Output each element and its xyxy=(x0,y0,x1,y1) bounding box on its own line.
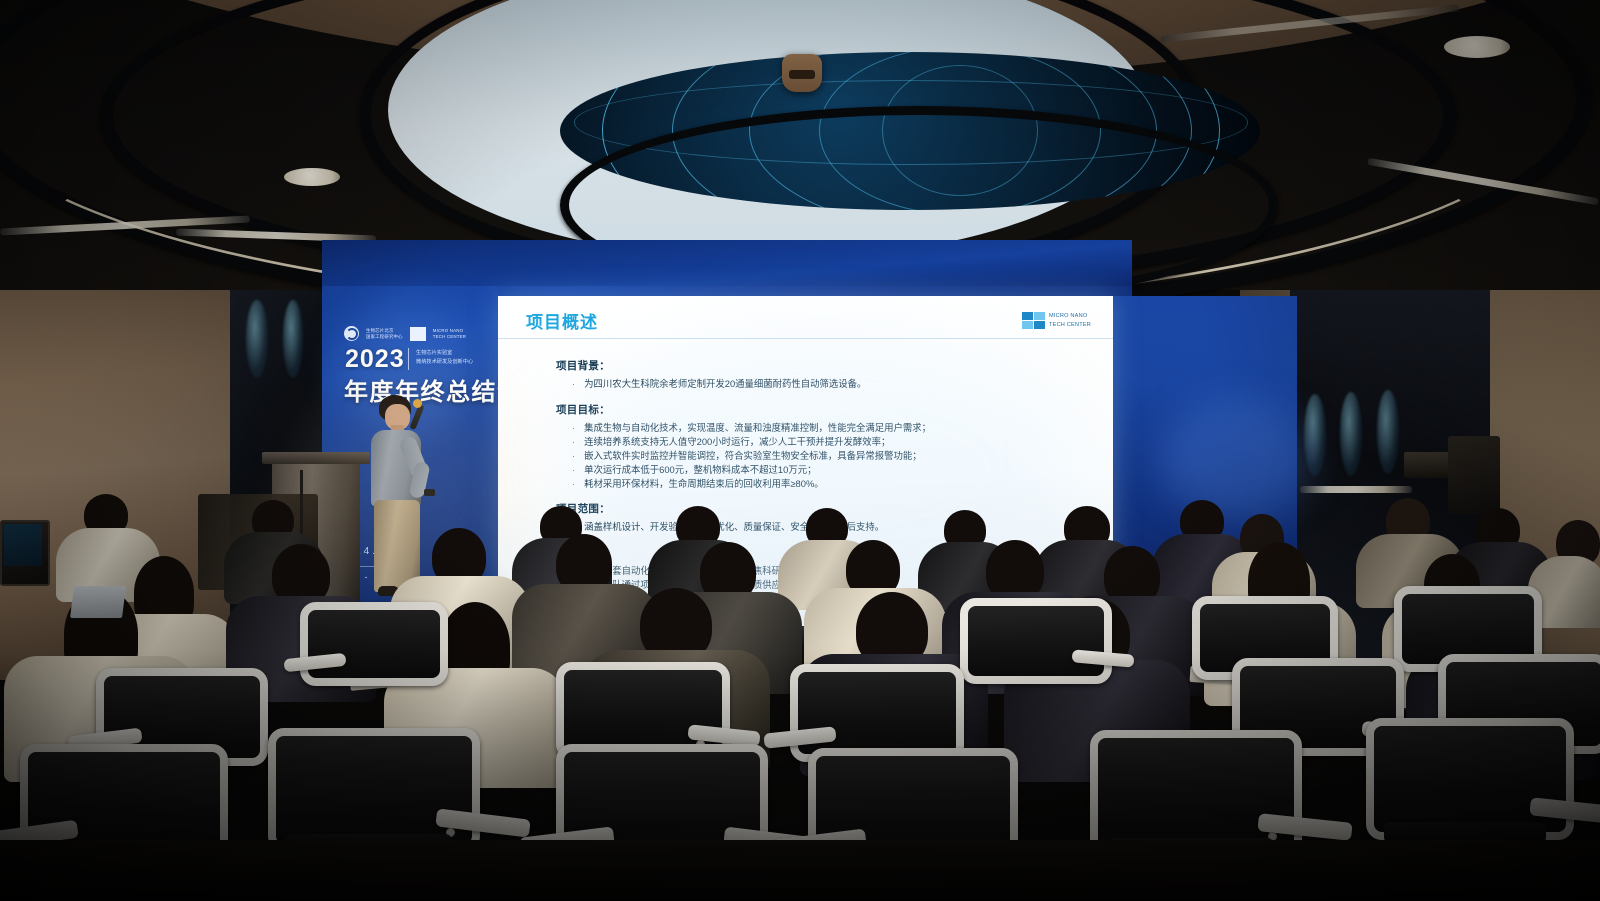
slide-bullet: ·集成生物与自动化技术，实现温度、流量和浊度精准控制，性能完全满足用户需求； xyxy=(572,421,1087,435)
backdrop-subtitle-1: 生物芯片实验室 xyxy=(416,350,452,358)
slide-bullet: ·单次运行成本低于600元，整机物料成本不超过10万元； xyxy=(572,463,1087,477)
bullet-icon: · xyxy=(572,477,575,491)
slide-bullet: ·连续培养系统支持无人值守200小时运行，减少人工干预并提升发酵效率； xyxy=(572,435,1087,449)
podium-top-surface xyxy=(262,452,370,464)
slide-bullet-text: 连续培养系统支持无人值守200小时运行，减少人工干预并提升发酵效率； xyxy=(584,435,890,449)
backdrop-year: 2023 xyxy=(345,345,405,374)
laptop xyxy=(70,586,126,618)
backdrop-logo: 生物芯片北京 国家工程研究中心 MICRO NANO TECH CENTER xyxy=(344,326,466,341)
bullet-icon: · xyxy=(572,463,575,477)
glass-oval-reflection xyxy=(1377,390,1399,474)
slide-section-heading: 项目背景： xyxy=(556,358,1087,373)
slide-logo: MICRO NANO TECH CENTER xyxy=(1022,312,1091,329)
glass-oval-reflection xyxy=(1340,392,1362,476)
slide-bullet-text: 集成生物与自动化技术，实现温度、流量和浊度精准控制，性能完全满足用户需求； xyxy=(584,421,931,435)
slide-logo-line2: TECH CENTER xyxy=(1049,321,1091,329)
bullet-icon: · xyxy=(572,435,575,449)
backdrop-divider xyxy=(408,348,409,370)
panel-strip-light xyxy=(1300,486,1412,493)
slide-section: 项目背景： ·为四川农大生科院余老师定制开发20通量细菌耐药性自动筛选设备。 xyxy=(556,358,1087,391)
slide-bullet: ·耗材采用环保材料，生命周期结束后的回收利用率≥80%。 xyxy=(572,477,1087,491)
bullet-icon: · xyxy=(572,421,575,435)
glass-oval-reflection xyxy=(246,300,268,378)
slide-bullet-text: 为四川农大生科院余老师定制开发20通量细菌耐药性自动筛选设备。 xyxy=(584,377,866,391)
slide-bullet: ·嵌入式软件实时监控并智能调控，符合实验室生物安全标准，具备异常报警功能； xyxy=(572,449,1087,463)
slide-title: 项目概述 xyxy=(526,308,598,333)
bullet-icon: · xyxy=(572,449,575,463)
slide-logo-text: MICRO NANO TECH CENTER xyxy=(1049,312,1091,329)
slide-bullet-text: 嵌入式软件实时监控并智能调控，符合实验室生物安全标准，具备异常报警功能； xyxy=(584,449,922,463)
mntc-grid-logo-icon xyxy=(1022,312,1045,329)
slide-bullet: ·为四川农大生科院余老师定制开发20通量细菌耐药性自动筛选设备。 xyxy=(572,377,1087,391)
slide-bullet-text: 单次运行成本低于600元，整机物料成本不超过10万元； xyxy=(584,463,816,477)
ceiling-reflected-object-detail xyxy=(789,70,815,79)
square-logo-icon xyxy=(410,327,426,341)
microphone-head-icon xyxy=(413,399,422,408)
ceiling-disk-light xyxy=(1444,36,1510,58)
presentation-clicker xyxy=(424,489,435,496)
swirl-logo-icon xyxy=(344,326,359,341)
slide-section-heading: 项目目标： xyxy=(556,402,1087,417)
monitor-screen xyxy=(4,524,42,566)
slide-bullet-text: 耗材采用环保材料，生命周期结束后的回收利用率≥80%。 xyxy=(584,477,824,491)
speaker-stack xyxy=(1448,436,1500,514)
glass-oval-reflection xyxy=(283,300,303,378)
floor xyxy=(0,840,1600,901)
slide-logo-line1: MICRO NANO xyxy=(1049,312,1091,320)
backdrop-subtitle-2: 微纳技术研发及创新中心 xyxy=(416,359,473,367)
backdrop-logo-right-text: MICRO NANO TECH CENTER xyxy=(433,328,466,340)
backdrop-glow xyxy=(1160,400,1310,520)
bullet-icon: · xyxy=(572,377,575,391)
slide-section: 项目目标： ·集成生物与自动化技术，实现温度、流量和浊度精准控制，性能完全满足用… xyxy=(556,402,1087,491)
presentation-room-scene: 项目概述 · 项目目标 · 项目范围 · 预期成果 生物芯片北京 国家工程研究中… xyxy=(0,0,1600,901)
backdrop-logo-left-text: 生物芯片北京 国家工程研究中心 xyxy=(366,328,403,340)
ceiling-disk-light xyxy=(284,168,340,186)
